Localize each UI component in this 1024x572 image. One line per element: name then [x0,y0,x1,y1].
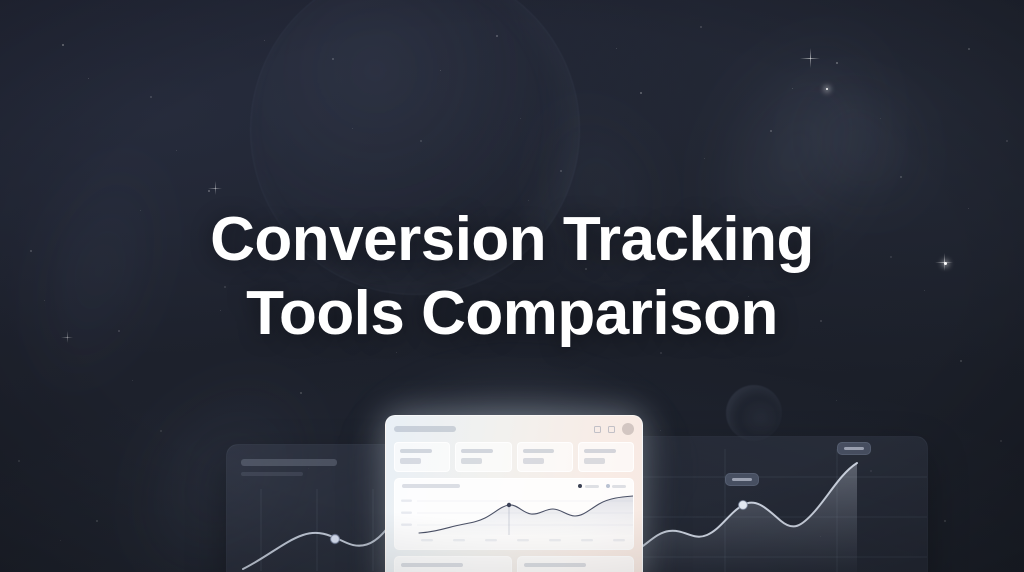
hero-banner: Conversion Tracking Tools Comparison [0,0,1024,572]
stat-label-placeholder [461,449,493,453]
donut-card[interactable] [517,556,635,572]
stat-card[interactable] [455,442,511,472]
right-dark-chart-card [628,436,928,572]
tooltip-value-placeholder [844,447,863,450]
chart-tooltip-pill [725,473,759,486]
starfield-layer-2 [0,0,1,1]
stat-value-placeholder [461,458,482,464]
dashboard-main-chart [395,489,634,545]
page-title-line-1: Conversion Tracking [0,203,1024,277]
bottom-card-row [386,550,642,572]
stat-label-placeholder [584,449,616,453]
dashboard-topbar-icons [594,423,634,435]
stat-label-placeholder [523,449,555,453]
dashboard-topbar [386,416,642,442]
search-icon[interactable] [594,426,601,433]
stat-value-placeholder [523,458,544,464]
stat-card[interactable] [578,442,634,472]
chart-card-header [395,479,633,488]
stat-card[interactable] [394,442,450,472]
analytics-dashboard-mockup[interactable] [385,415,643,572]
stat-value-placeholder [584,458,605,464]
legend-dot-icon [578,484,582,488]
table-card[interactable] [394,556,512,572]
chart-tooltip-pill [837,442,871,455]
legend-item[interactable] [578,484,599,488]
dashboard-logo [394,426,456,432]
stat-card[interactable] [517,442,573,472]
avatar[interactable] [622,423,634,435]
tooltip-value-placeholder [732,478,751,481]
stat-label-placeholder [400,449,432,453]
right-panel-chart [629,437,928,572]
bright-star-icon [826,88,828,90]
legend-dot-icon [606,484,610,488]
page-title: Conversion Tracking Tools Comparison [0,203,1024,351]
chart-legend [578,484,626,488]
main-chart-card[interactable] [394,478,634,550]
legend-label-placeholder [585,485,599,488]
crescent-moon-icon [726,385,782,441]
donut-card-title-placeholder [524,563,586,567]
page-title-line-2: Tools Comparison [0,277,1024,351]
bell-icon[interactable] [608,426,615,433]
legend-item[interactable] [606,484,627,488]
table-card-title-placeholder [401,563,463,567]
legend-label-placeholder [612,485,626,488]
stat-value-placeholder [400,458,421,464]
stat-card-row [386,442,642,472]
chart-title-placeholder [402,484,460,488]
